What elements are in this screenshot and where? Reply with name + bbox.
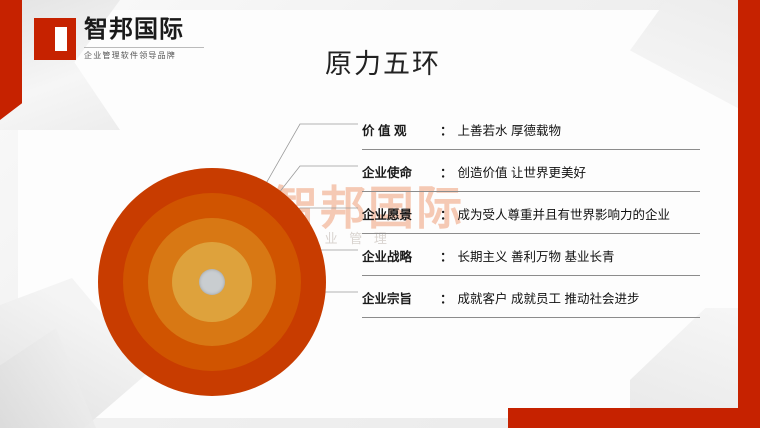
ring-5 (199, 269, 225, 295)
row-colon: ： (440, 246, 453, 265)
brand-tagline: 企业管理软件领导品牌 (84, 47, 204, 60)
row-label: 企业使命 (362, 162, 440, 181)
row-colon: ： (440, 162, 453, 181)
brand-logo-texts: 智邦国际 企业管理软件领导品牌 (84, 18, 204, 60)
ring-label-row: 企业使命：创造价值 让世界更美好 (362, 150, 722, 192)
slide-canvas: 智邦国际 企业管理软件领导品牌 原力五环 智邦国际 企 业 管 理 价 值 观：… (0, 0, 760, 428)
page-title: 原力五环 (325, 42, 441, 81)
row-label: 企业宗旨 (362, 288, 440, 307)
ring-label-row: 企业愿景：成为受人尊重并且有世界影响力的企业 (362, 192, 722, 234)
ring-label-list: 价 值 观：上善若水 厚德载物企业使命：创造价值 让世界更美好企业愿景：成为受人… (362, 108, 722, 318)
ring-label-row: 企业战略：长期主义 善利万物 基业长青 (362, 234, 722, 276)
concentric-rings-diagram (98, 168, 326, 396)
row-value: 创造价值 让世界更美好 (458, 162, 586, 181)
row-label: 企业战略 (362, 246, 440, 265)
row-label: 企业愿景 (362, 204, 440, 223)
row-colon: ： (440, 204, 453, 223)
row-value: 成为受人尊重并且有世界影响力的企业 (458, 204, 671, 223)
accent-bar-right (738, 0, 760, 428)
brand-logo: 智邦国际 企业管理软件领导品牌 (34, 18, 204, 60)
accent-bar-bottom-right (508, 408, 738, 428)
row-label: 价 值 观 (362, 120, 440, 139)
brand-name: 智邦国际 (84, 18, 204, 42)
row-colon: ： (440, 288, 453, 307)
ring-label-row: 价 值 观：上善若水 厚德载物 (362, 108, 722, 150)
row-value: 长期主义 善利万物 基业长青 (458, 246, 615, 265)
row-underline (362, 317, 700, 318)
row-value: 成就客户 成就员工 推动社会进步 (458, 288, 640, 307)
zhibang-logo-mark-icon (34, 18, 76, 60)
row-colon: ： (440, 120, 453, 139)
row-value: 上善若水 厚德载物 (458, 120, 561, 139)
ring-label-row: 企业宗旨：成就客户 成就员工 推动社会进步 (362, 276, 722, 318)
accent-bar-top-left (0, 0, 22, 120)
